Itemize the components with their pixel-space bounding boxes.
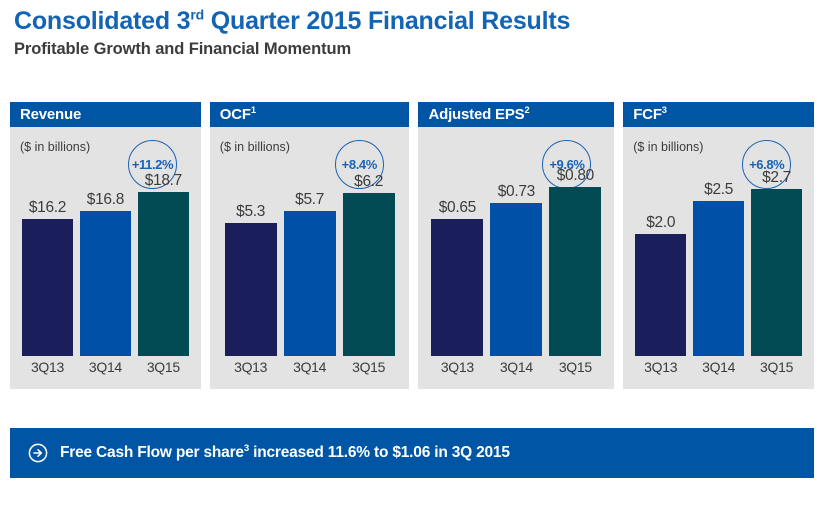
panel-header-ocf: OCF1 xyxy=(210,102,410,127)
bar-rect xyxy=(22,219,73,356)
panel-title-fcf: FCF xyxy=(633,106,662,123)
title-block: Consolidated 3rd Quarter 2015 Financial … xyxy=(14,8,804,59)
bar-column-3q15: $0.80 xyxy=(549,127,601,356)
arrow-right-circle-icon xyxy=(28,443,48,463)
bar-column-3q15: $18.7 xyxy=(138,127,189,356)
bar-column-3q15: $6.2 xyxy=(343,127,395,356)
panel-title-ocf: OCF xyxy=(220,106,251,123)
page-title-superscript: rd xyxy=(190,7,204,23)
chart-plot-revenue: $16.2 $16.8 $18.7 3Q13 3Q14 3Q15 xyxy=(10,127,201,389)
bar-column-3q14: $0.73 xyxy=(490,127,542,356)
bar-value-label: $18.7 xyxy=(145,172,182,190)
metric-panels-row: Revenue ($ in billions) +11.2% $16.2 $16… xyxy=(10,102,814,389)
bar-rect xyxy=(138,192,189,356)
highlight-banner: Free Cash Flow per share3 increased 11.6… xyxy=(10,428,814,478)
banner-text-before: Free Cash Flow per share xyxy=(60,444,244,461)
panel-header-adjusted-eps: Adjusted EPS2 xyxy=(418,102,614,127)
bar-rect xyxy=(284,211,336,356)
banner-text: Free Cash Flow per share3 increased 11.6… xyxy=(60,444,510,462)
panel-title-superscript-fcf: 3 xyxy=(662,105,667,115)
bar-group-fcf: $2.0 $2.5 $2.7 xyxy=(635,127,802,356)
panel-title-adjusted-eps: Adjusted EPS xyxy=(428,106,524,123)
bar-value-label: $0.73 xyxy=(498,183,535,201)
bar-column-3q14: $16.8 xyxy=(80,127,131,356)
panel-title-superscript-adjusted-eps: 2 xyxy=(524,105,529,115)
axis-label: 3Q13 xyxy=(225,359,277,381)
x-axis-fcf: 3Q13 3Q14 3Q15 xyxy=(635,359,802,381)
page-subtitle: Profitable Growth and Financial Momentum xyxy=(14,40,804,59)
axis-label: 3Q14 xyxy=(80,359,131,381)
chart-plot-ocf: $5.3 $5.7 $6.2 3Q13 3Q14 3Q15 xyxy=(210,127,410,389)
bar-value-label: $2.0 xyxy=(646,214,675,232)
bar-column-3q14: $2.5 xyxy=(693,127,744,356)
bar-rect xyxy=(431,219,483,356)
panel-header-revenue: Revenue xyxy=(10,102,201,127)
bar-group-ocf: $5.3 $5.7 $6.2 xyxy=(222,127,398,356)
bar-rect xyxy=(490,203,542,356)
axis-label: 3Q13 xyxy=(431,359,483,381)
bar-column-3q13: $5.3 xyxy=(225,127,277,356)
axis-label: 3Q15 xyxy=(138,359,189,381)
panel-title-superscript-ocf: 1 xyxy=(251,105,256,115)
bar-column-3q15: $2.7 xyxy=(751,127,802,356)
metric-panel-fcf: FCF3 ($ in billions) +6.8% $2.0 $2.5 $2.… xyxy=(623,102,814,389)
chart-plot-fcf: $2.0 $2.5 $2.7 3Q13 3Q14 3Q15 xyxy=(623,127,814,389)
bar-value-label: $0.65 xyxy=(439,199,476,217)
bar-group-adjusted-eps: $0.65 $0.73 $0.80 xyxy=(430,127,602,356)
panel-header-fcf: FCF3 xyxy=(623,102,814,127)
metric-panel-adjusted-eps: Adjusted EPS2 +9.6% $0.65 $0.73 $0.80 3Q xyxy=(418,102,614,389)
bar-rect xyxy=(693,201,744,356)
bar-value-label: $5.3 xyxy=(236,203,265,221)
bar-value-label: $6.2 xyxy=(354,173,383,191)
bar-rect xyxy=(343,193,395,356)
x-axis-revenue: 3Q13 3Q14 3Q15 xyxy=(22,359,189,381)
axis-label: 3Q13 xyxy=(635,359,686,381)
page-title-prefix: Consolidated 3 xyxy=(14,7,190,35)
axis-label: 3Q15 xyxy=(549,359,601,381)
axis-label: 3Q15 xyxy=(343,359,395,381)
axis-label: 3Q14 xyxy=(490,359,542,381)
bar-value-label: $2.7 xyxy=(762,169,791,187)
bar-column-3q13: $16.2 xyxy=(22,127,73,356)
x-axis-adjusted-eps: 3Q13 3Q14 3Q15 xyxy=(430,359,602,381)
bar-column-3q13: $0.65 xyxy=(431,127,483,356)
axis-label: 3Q14 xyxy=(693,359,744,381)
bar-value-label: $16.8 xyxy=(87,191,124,209)
bar-group-revenue: $16.2 $16.8 $18.7 xyxy=(22,127,189,356)
bar-rect xyxy=(635,234,686,357)
bar-rect xyxy=(225,223,277,356)
panel-title-revenue: Revenue xyxy=(20,106,81,123)
bar-value-label: $5.7 xyxy=(295,191,324,209)
bar-column-3q13: $2.0 xyxy=(635,127,686,356)
page-title-suffix: Quarter 2015 Financial Results xyxy=(204,7,570,35)
banner-text-after: increased 11.6% to $1.06 in 3Q 2015 xyxy=(249,444,510,461)
bar-value-label: $2.5 xyxy=(704,181,733,199)
chart-plot-adjusted-eps: $0.65 $0.73 $0.80 3Q13 3Q14 3Q15 xyxy=(418,127,614,389)
bar-value-label: $16.2 xyxy=(29,199,66,217)
axis-label: 3Q13 xyxy=(22,359,73,381)
bar-column-3q14: $5.7 xyxy=(284,127,336,356)
metric-panel-ocf: OCF1 ($ in billions) +8.4% $5.3 $5.7 $6.… xyxy=(210,102,410,389)
bar-value-label: $0.80 xyxy=(557,167,594,185)
bar-rect xyxy=(751,189,802,356)
x-axis-ocf: 3Q13 3Q14 3Q15 xyxy=(222,359,398,381)
axis-label: 3Q15 xyxy=(751,359,802,381)
metric-panel-revenue: Revenue ($ in billions) +11.2% $16.2 $16… xyxy=(10,102,201,389)
axis-label: 3Q14 xyxy=(284,359,336,381)
bar-rect xyxy=(549,187,601,356)
page-title: Consolidated 3rd Quarter 2015 Financial … xyxy=(14,8,804,34)
bar-rect xyxy=(80,211,131,356)
